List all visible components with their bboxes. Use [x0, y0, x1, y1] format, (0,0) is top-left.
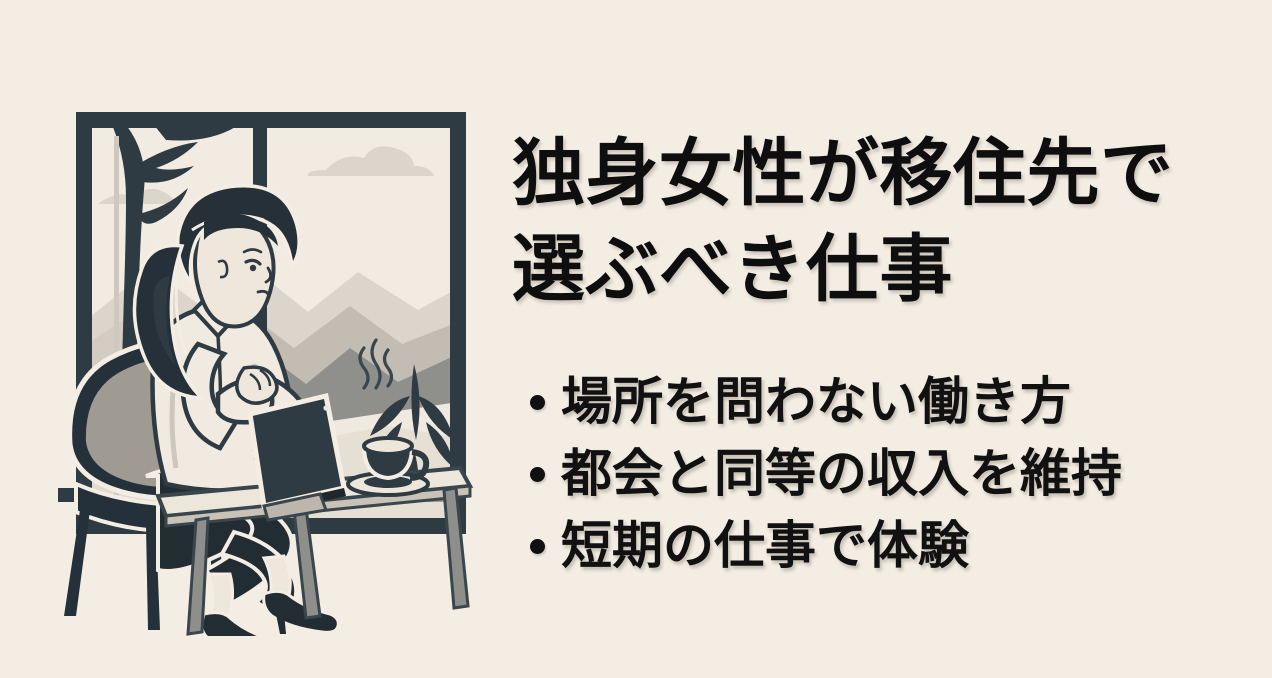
- eye: [250, 265, 256, 271]
- text-column: 独身女性が移住先で 選ぶべき仕事 場所を問わない働き方 都会と同等の収入を維持 …: [512, 126, 1252, 606]
- cup-rim: [364, 438, 412, 454]
- list-item-label: 場所を問わない働き方: [561, 377, 1071, 428]
- woman-working-at-window-illustration: [58, 96, 478, 636]
- title-line-1: 独身女性が移住先で: [512, 126, 1252, 222]
- list-item: 短期の仕事で体験: [530, 510, 1122, 582]
- page-title: 独身女性が移住先で 選ぶべき仕事: [512, 126, 1252, 318]
- list-item: 場所を問わない働き方: [530, 366, 1122, 438]
- poster-canvas: 独身女性が移住先で 選ぶべき仕事 場所を問わない働き方 都会と同等の収入を維持 …: [0, 0, 1272, 678]
- bullet-dot-icon: [530, 395, 545, 410]
- list-item-label: 短期の仕事で体験: [561, 521, 969, 572]
- bullet-dot-icon: [530, 467, 545, 482]
- benefit-list: 場所を問わない働き方 都会と同等の収入を維持 短期の仕事で体験: [530, 366, 1122, 582]
- list-item: 都会と同等の収入を維持: [530, 438, 1122, 510]
- tablet-screen: [250, 396, 344, 506]
- tablet-camera: [323, 405, 328, 410]
- title-line-2: 選ぶべき仕事: [512, 222, 1252, 318]
- list-item-label: 都会と同等の収入を維持: [561, 449, 1122, 500]
- bullet-dot-icon: [530, 539, 545, 554]
- illustration-svg: [58, 96, 478, 636]
